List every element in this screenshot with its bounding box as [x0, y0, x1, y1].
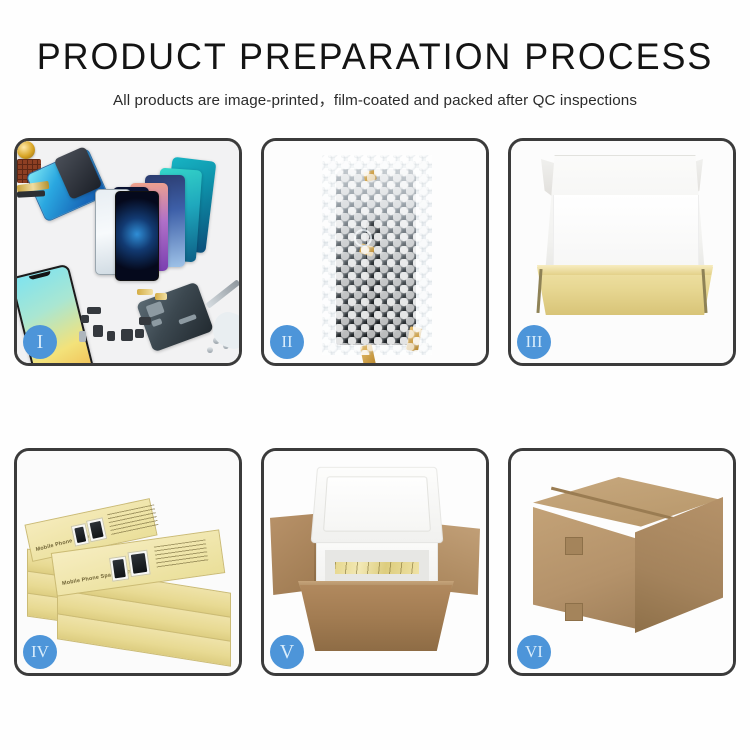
small-part-icon [121, 329, 133, 341]
step-badge: II [270, 325, 304, 359]
small-part-icon [93, 325, 103, 337]
step-badge: III [517, 325, 551, 359]
bubble-texture [322, 155, 432, 355]
step-card-2[interactable]: II [261, 138, 489, 366]
small-part-icon [107, 331, 115, 341]
step-card-1[interactable]: I [14, 138, 242, 366]
carton-tab-icon [565, 603, 583, 621]
box-rim-icon [537, 265, 713, 275]
box-spec-lines-icon [107, 504, 159, 535]
step-badge: I [23, 325, 57, 359]
page-title: PRODUCT PREPARATION PROCESS [11, 0, 739, 75]
box-window-icon [109, 556, 129, 582]
small-part-icon [135, 329, 144, 338]
box-stack: Mobile Phone Spare Parts Mobile Phone Sp… [27, 479, 235, 659]
phone-notch-icon [29, 271, 52, 280]
screw-icon [207, 347, 213, 353]
step-card-6[interactable]: VI [508, 448, 736, 676]
step-badge: VI [517, 635, 551, 669]
step-badge: V [270, 635, 304, 669]
step-card-4[interactable]: Mobile Phone Spare Parts Mobile Phone Sp… [14, 448, 242, 676]
hand-icon [208, 308, 239, 352]
small-part-icon [139, 317, 151, 325]
step-card-3[interactable]: III [508, 138, 736, 366]
phone-dark-wallpaper-icon [115, 191, 159, 281]
tweezers-icon [205, 279, 239, 308]
small-part-icon [81, 315, 89, 323]
step-card-5[interactable]: V [261, 448, 489, 676]
small-part-icon [87, 307, 101, 314]
product-preparation-infographic: PRODUCT PREPARATION PROCESS All products… [0, 0, 750, 750]
foam-sheet-icon [553, 195, 699, 273]
small-part-icon [155, 293, 167, 300]
box-spec-lines-icon [154, 539, 209, 568]
box-window-icon [127, 550, 150, 578]
bubble-bag-icon [322, 155, 432, 355]
small-part-icon [79, 331, 86, 342]
foam-lid-icon [311, 467, 444, 543]
speaker-coil-icon [17, 141, 35, 159]
header: PRODUCT PREPARATION PROCESS All products… [0, 0, 750, 130]
box-window-icon [86, 517, 107, 542]
step-badge: IV [23, 635, 57, 669]
process-steps-grid: I II [14, 138, 736, 678]
carton-front-panel-icon [300, 585, 452, 651]
small-part-icon [137, 289, 153, 295]
carton-tab-icon [565, 537, 583, 555]
yellow-boxes-inside-icon [335, 562, 419, 574]
carton-left-panel-icon [533, 507, 637, 629]
page-subtitle: All products are image-printed，film-coat… [0, 75, 750, 110]
foam-cavity-icon [325, 550, 429, 584]
